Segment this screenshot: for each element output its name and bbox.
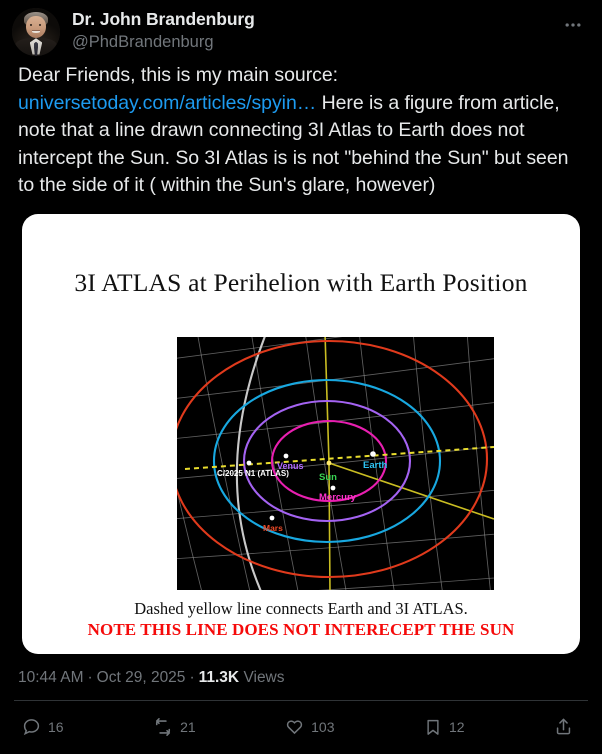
more-options-button[interactable] — [556, 8, 590, 42]
like-count: 103 — [311, 719, 334, 735]
bookmark-icon — [424, 718, 442, 736]
figure-caption-line-2: NOTE THIS LINE DOES NOT INTERECEPT THE S… — [22, 620, 580, 640]
figure-caption-line-1: Dashed yellow line connects Earth and 3I… — [22, 599, 580, 619]
author-display-name[interactable]: Dr. John Brandenburg — [72, 9, 255, 30]
tweet-text-before-link: Dear Friends, this is my main source: — [18, 64, 338, 86]
views-label: Views — [243, 669, 284, 686]
label-mars: Mars — [263, 523, 283, 533]
author-names: Dr. John Brandenburg @PhdBrandenburg — [72, 8, 255, 53]
sun-marker — [327, 460, 332, 465]
reply-count: 16 — [48, 719, 64, 735]
earth-marker — [370, 451, 376, 457]
orbit-diagram-panel: Sun Mercury Venus Earth Mars C/2025 N1 (… — [177, 337, 494, 590]
mercury-marker — [331, 485, 336, 490]
mars-marker — [270, 515, 275, 520]
post-header: Dr. John Brandenburg @PhdBrandenburg — [0, 0, 602, 56]
tweet-text: Dear Friends, this is my main source: un… — [0, 56, 602, 200]
reply-icon — [22, 717, 41, 736]
views-count: 11.3K — [199, 669, 240, 686]
heart-icon — [285, 717, 304, 736]
retweet-button[interactable]: 21 — [153, 717, 196, 737]
bookmark-button[interactable]: 12 — [424, 718, 465, 736]
avatar-eye-right — [39, 24, 41, 26]
action-bar: 16 21 103 12 — [0, 701, 602, 747]
meta-separator-1: · — [88, 669, 93, 686]
venus-marker — [284, 453, 289, 458]
avatar[interactable] — [12, 8, 60, 56]
post-time: 10:44 AM — [18, 669, 84, 686]
tweet-image-card[interactable]: 3I ATLAS at Perihelion with Earth Positi… — [22, 214, 580, 654]
label-sun: Sun — [319, 472, 337, 483]
retweet-count: 21 — [180, 719, 196, 735]
figure-title: 3I ATLAS at Perihelion with Earth Positi… — [22, 268, 580, 298]
avatar-eye-left — [30, 24, 32, 26]
orbit-diagram-svg: Sun Mercury Venus Earth Mars C/2025 N1 (… — [177, 337, 494, 590]
atlas-marker — [247, 460, 252, 465]
share-icon — [554, 717, 573, 736]
post-date: Oct 29, 2025 — [97, 669, 186, 686]
more-horizontal-icon — [563, 15, 583, 35]
author-handle[interactable]: @PhdBrandenburg — [72, 32, 255, 53]
like-button[interactable]: 103 — [285, 717, 334, 736]
label-atlas: C/2025 N1 (ATLAS) — [217, 469, 289, 478]
label-mercury: Mercury — [319, 492, 357, 503]
bookmark-count: 12 — [449, 719, 465, 735]
reply-button[interactable]: 16 — [22, 717, 64, 736]
meta-separator-2: · — [189, 669, 194, 686]
retweet-icon — [153, 717, 173, 737]
label-earth: Earth — [363, 460, 387, 471]
post-metadata: 10:44 AM·Oct 29, 2025·11.3K Views — [0, 654, 602, 688]
tweet-post: Dr. John Brandenburg @PhdBrandenburg Dea… — [0, 0, 602, 754]
share-button[interactable] — [554, 717, 580, 736]
tweet-link[interactable]: universetoday.com/articles/spyin… — [18, 92, 316, 114]
